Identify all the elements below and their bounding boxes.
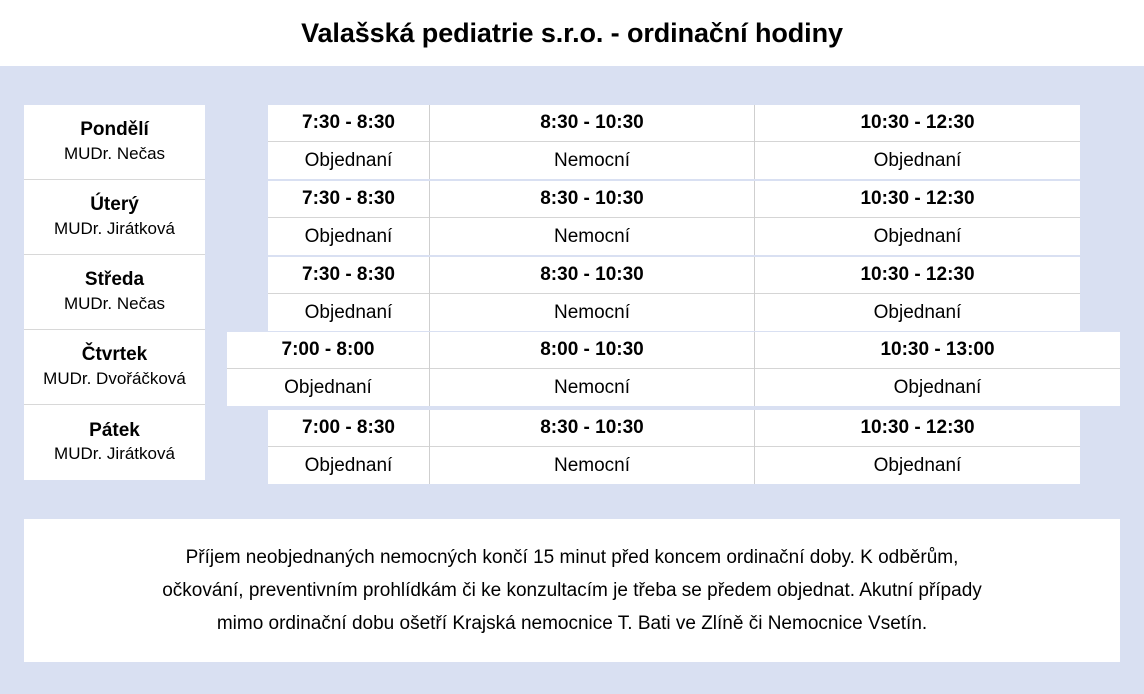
schedule-slot: 8:30 - 10:30Nemocní bbox=[430, 181, 755, 255]
slot-time: 8:00 - 10:30 bbox=[430, 332, 754, 369]
schedule-slot: 8:00 - 10:30Nemocní bbox=[430, 332, 755, 406]
note-line: Příjem neobjednaných nemocných končí 15 … bbox=[186, 548, 959, 567]
table-row: 7:00 - 8:00Objednaní8:00 - 10:30Nemocní1… bbox=[227, 332, 1120, 406]
schedule-slot: 8:30 - 10:30Nemocní bbox=[430, 257, 755, 331]
schedule-slot: 7:30 - 8:30Objednaní bbox=[268, 257, 430, 331]
schedule-slot: 7:00 - 8:00Objednaní bbox=[227, 332, 430, 406]
page-title: Valašská pediatrie s.r.o. - ordinační ho… bbox=[301, 18, 843, 49]
schedule-slot: 8:30 - 10:30Nemocní bbox=[430, 410, 755, 484]
doctor-name: MUDr. Jirátková bbox=[54, 443, 175, 465]
schedule-slot: 7:30 - 8:30Objednaní bbox=[268, 105, 430, 179]
note-line: očkování, preventivním prohlídkám či ke … bbox=[162, 581, 982, 600]
slot-time: 7:30 - 8:30 bbox=[268, 105, 429, 142]
schedule-slot: 7:30 - 8:30Objednaní bbox=[268, 181, 430, 255]
slot-patient-type: Objednaní bbox=[268, 294, 429, 331]
day-name: Pondělí bbox=[80, 119, 149, 141]
day-cell: PátekMUDr. Jirátková bbox=[24, 405, 205, 480]
slot-patient-type: Nemocní bbox=[430, 447, 754, 484]
opening-hours-page: Valašská pediatrie s.r.o. - ordinační ho… bbox=[0, 0, 1144, 694]
doctor-name: MUDr. Jirátková bbox=[54, 218, 175, 240]
slot-patient-type: Objednaní bbox=[755, 142, 1080, 179]
schedule-slot: 10:30 - 12:30Objednaní bbox=[755, 257, 1080, 331]
slot-time: 10:30 - 12:30 bbox=[755, 410, 1080, 447]
note-box: Příjem neobjednaných nemocných končí 15 … bbox=[24, 519, 1120, 662]
day-cell: ČtvrtekMUDr. Dvořáčková bbox=[24, 330, 205, 405]
day-cell: ÚterýMUDr. Jirátková bbox=[24, 180, 205, 255]
slot-time: 7:00 - 8:00 bbox=[227, 332, 429, 369]
slot-patient-type: Nemocní bbox=[430, 294, 754, 331]
day-name: Pátek bbox=[89, 420, 140, 442]
slot-time: 7:30 - 8:30 bbox=[268, 181, 429, 218]
slot-patient-type: Objednaní bbox=[268, 218, 429, 255]
schedule-slot: 10:30 - 12:30Objednaní bbox=[755, 181, 1080, 255]
slot-patient-type: Objednaní bbox=[268, 142, 429, 179]
slot-time: 7:00 - 8:30 bbox=[268, 410, 429, 447]
note-line: mimo ordinační dobu ošetří Krajská nemoc… bbox=[217, 614, 927, 633]
doctor-name: MUDr. Nečas bbox=[64, 293, 165, 315]
slot-patient-type: Objednaní bbox=[755, 218, 1080, 255]
schedule-slot: 7:00 - 8:30Objednaní bbox=[268, 410, 430, 484]
schedule-slot: 8:30 - 10:30Nemocní bbox=[430, 105, 755, 179]
slot-patient-type: Nemocní bbox=[430, 142, 754, 179]
day-label-column: PondělíMUDr. NečasÚterýMUDr. JirátkováSt… bbox=[24, 105, 205, 480]
slot-time: 8:30 - 10:30 bbox=[430, 257, 754, 294]
schedule-slot: 10:30 - 12:30Objednaní bbox=[755, 410, 1080, 484]
slot-time: 7:30 - 8:30 bbox=[268, 257, 429, 294]
slot-time: 8:30 - 10:30 bbox=[430, 105, 754, 142]
slot-time: 10:30 - 12:30 bbox=[755, 257, 1080, 294]
slot-patient-type: Nemocní bbox=[430, 369, 754, 406]
day-name: Středa bbox=[85, 269, 144, 291]
doctor-name: MUDr. Dvořáčková bbox=[43, 368, 186, 390]
slot-patient-type: Objednaní bbox=[755, 447, 1080, 484]
slot-time: 8:30 - 10:30 bbox=[430, 410, 754, 447]
schedule-slot: 10:30 - 13:00Objednaní bbox=[755, 332, 1120, 406]
doctor-name: MUDr. Nečas bbox=[64, 143, 165, 165]
title-band: Valašská pediatrie s.r.o. - ordinační ho… bbox=[0, 0, 1144, 66]
slot-patient-type: Objednaní bbox=[227, 369, 429, 406]
table-row: 7:00 - 8:30Objednaní8:30 - 10:30Nemocní1… bbox=[268, 410, 1080, 484]
day-cell: PondělíMUDr. Nečas bbox=[24, 105, 205, 180]
slot-patient-type: Objednaní bbox=[755, 369, 1120, 406]
slot-time: 10:30 - 13:00 bbox=[755, 332, 1120, 369]
day-cell: StředaMUDr. Nečas bbox=[24, 255, 205, 330]
slot-time: 10:30 - 12:30 bbox=[755, 105, 1080, 142]
slot-patient-type: Objednaní bbox=[268, 447, 429, 484]
table-row: 7:30 - 8:30Objednaní8:30 - 10:30Nemocní1… bbox=[268, 105, 1080, 179]
slot-patient-type: Objednaní bbox=[755, 294, 1080, 331]
table-row: 7:30 - 8:30Objednaní8:30 - 10:30Nemocní1… bbox=[268, 257, 1080, 331]
table-row: 7:30 - 8:30Objednaní8:30 - 10:30Nemocní1… bbox=[268, 181, 1080, 255]
slot-time: 8:30 - 10:30 bbox=[430, 181, 754, 218]
slot-time: 10:30 - 12:30 bbox=[755, 181, 1080, 218]
day-name: Čtvrtek bbox=[82, 344, 147, 366]
schedule-slot: 10:30 - 12:30Objednaní bbox=[755, 105, 1080, 179]
day-name: Úterý bbox=[90, 194, 139, 216]
slot-patient-type: Nemocní bbox=[430, 218, 754, 255]
